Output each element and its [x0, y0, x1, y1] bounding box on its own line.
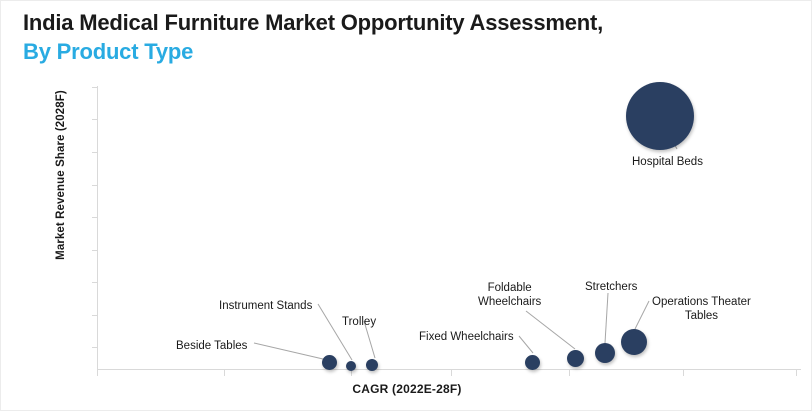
y-axis-tick — [92, 250, 97, 251]
bubble-point[interactable] — [346, 361, 356, 371]
y-axis-line — [97, 86, 98, 369]
leader-line — [519, 336, 533, 353]
y-axis-tick — [92, 347, 97, 348]
x-axis-tick — [683, 370, 684, 376]
y-axis-tick — [92, 185, 97, 186]
x-axis-tick — [224, 370, 225, 376]
y-axis-tick — [92, 152, 97, 153]
bubble-point[interactable] — [595, 343, 615, 363]
y-axis-tick — [92, 217, 97, 218]
data-label: Stretchers — [585, 280, 637, 294]
chart-page: India Medical Furniture Market Opportuni… — [0, 0, 812, 411]
leader-line — [605, 293, 608, 343]
bubble-point[interactable] — [626, 82, 694, 150]
y-axis-tick — [92, 282, 97, 283]
chart-title-block: India Medical Furniture Market Opportuni… — [23, 9, 783, 67]
x-axis-tick — [451, 370, 452, 376]
x-axis-title: CAGR (2022E-28F) — [1, 382, 812, 396]
x-axis-tick — [569, 370, 570, 376]
data-label: Fixed Wheelchairs — [419, 330, 514, 344]
leader-line — [254, 343, 323, 359]
data-label: Instrument Stands — [219, 299, 312, 313]
data-label: Hospital Beds — [632, 155, 703, 169]
leader-line — [635, 301, 649, 329]
leader-line — [318, 304, 352, 360]
y-axis-tick — [92, 119, 97, 120]
x-axis-tick — [796, 370, 797, 376]
bubble-point[interactable] — [621, 329, 647, 355]
y-axis-tick — [92, 87, 97, 88]
x-axis-line — [97, 369, 801, 370]
bubble-point[interactable] — [366, 359, 378, 371]
bubble-point[interactable] — [322, 355, 337, 370]
y-axis-tick — [92, 315, 97, 316]
data-label: Trolley — [342, 315, 376, 329]
x-axis-tick — [97, 370, 98, 376]
bubble-point[interactable] — [567, 350, 584, 367]
data-label: Beside Tables — [176, 339, 247, 353]
data-label: Operations Theater Tables — [652, 295, 751, 323]
chart-title-line-2: By Product Type — [23, 37, 783, 67]
leader-line — [526, 311, 575, 349]
bubble-point[interactable] — [525, 355, 540, 370]
chart-title-line-1: India Medical Furniture Market Opportuni… — [23, 9, 783, 37]
y-axis-title: Market Revenue Share (2028F) — [55, 75, 67, 275]
data-label: Foldable Wheelchairs — [478, 281, 541, 309]
